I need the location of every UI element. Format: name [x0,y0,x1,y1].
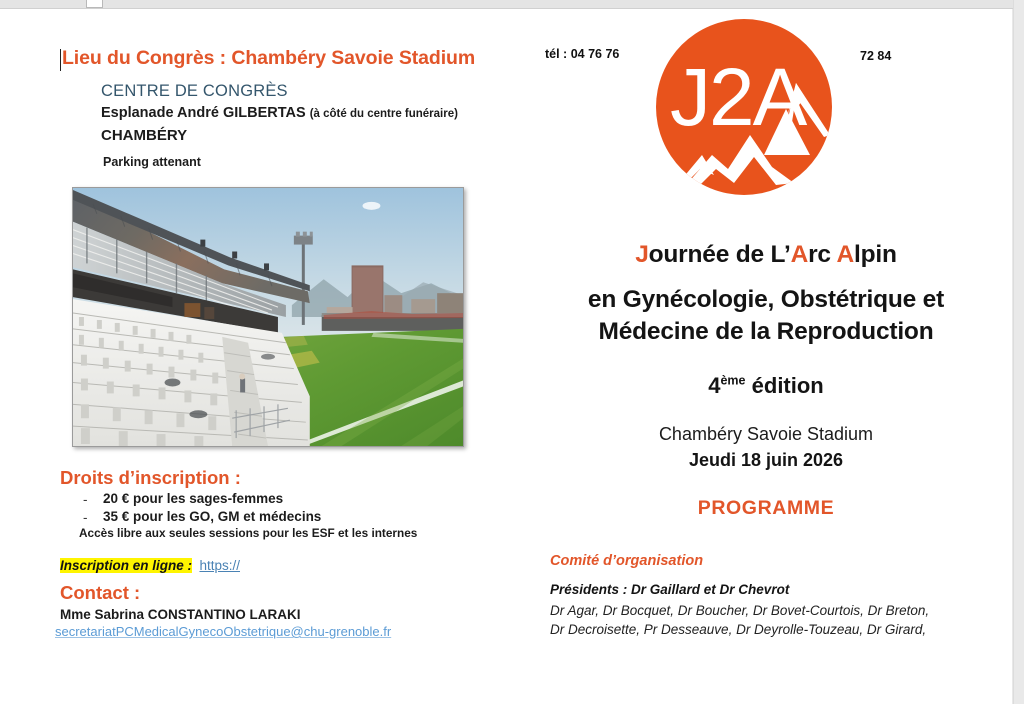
programme-heading: PROGRAMME [520,497,1012,520]
venue-street-note: (à côté du centre funéraire) [310,108,458,120]
text-cursor [60,49,61,71]
right-column: tél : 04 76 76 72 84 J2A [520,9,1012,704]
title-part-rc: rc [808,241,836,268]
fee-item-medecins: 35 € pour les GO, GM et médecins [103,509,321,524]
document-right-edge [1013,0,1024,704]
edition-number: 4 [708,373,720,398]
edition-label: 4ème édition [520,373,1012,399]
online-registration-label: Inscription en ligne : [60,558,192,573]
title-part-ournee: ournée de L’ [649,241,791,268]
organisation-members-line: Dr Decroisette, Pr Desseauve, Dr Deyroll… [550,622,926,637]
event-date: Jeudi 18 juin 2026 [520,450,1012,471]
contact-email-link[interactable]: secretariatPCMedicalGynecoObstetrique@ch… [55,624,391,639]
online-registration-link[interactable]: https:// [199,558,240,573]
stadium-photo [72,187,464,447]
fees-note: Accès libre aux seules sessions pour les… [79,526,417,540]
edition-ordinal-suffix: ème [720,374,745,388]
edition-word: édition [752,373,824,398]
title-initial-a1: A [791,241,809,268]
telephone-right: 72 84 [860,49,891,63]
page-tab-marker[interactable] [86,0,103,8]
left-column: Lieu du Congrès : Chambéry Savoie Stadiu… [0,9,520,704]
venue-title: Lieu du Congrès : Chambéry Savoie Stadiu… [62,47,475,70]
event-title-line-2: en Gynécologie, Obstétrique et [520,286,1012,314]
document-top-edge [0,0,1024,9]
event-title-line-1: Journée de L’Arc Alpin [520,241,1012,269]
event-title-line-3: Médecine de la Reproduction [520,318,1012,346]
organisation-committee-title: Comité d’organisation [550,553,703,569]
telephone-left: tél : 04 76 76 [545,47,619,61]
organisation-members-line: Dr Agar, Dr Bocquet, Dr Boucher, Dr Bove… [550,603,929,618]
document-page: Lieu du Congrès : Chambéry Savoie Stadiu… [0,9,1012,704]
event-location: Chambéry Savoie Stadium [520,424,1012,445]
venue-street-line: Esplanade André GILBERTAS (à côté du cen… [101,105,458,121]
fee-bullet-dash: - [83,492,88,507]
j2a-logo: J2A [654,17,834,197]
organisation-presidents: Présidents : Dr Gaillard et Dr Chevrot [550,582,789,597]
venue-street: Esplanade André GILBERTAS [101,105,306,121]
fee-bullet-dash: - [83,510,88,525]
contact-title: Contact : [60,582,140,604]
venue-subtitle: CENTRE DE CONGRÈS [101,82,288,101]
title-initial-j: J [635,241,648,268]
title-part-lpin: lpin [854,241,897,268]
fees-title: Droits d’inscription : [60,467,241,489]
online-registration-line: Inscription en ligne : https:// [60,557,240,575]
fee-item-sages-femmes: 20 € pour les sages-femmes [103,491,283,506]
title-initial-a2: A [837,241,855,268]
venue-city: CHAMBÉRY [101,127,187,144]
contact-name: Mme Sabrina CONSTANTINO LARAKI [60,607,301,622]
venue-parking: Parking attenant [103,155,201,169]
